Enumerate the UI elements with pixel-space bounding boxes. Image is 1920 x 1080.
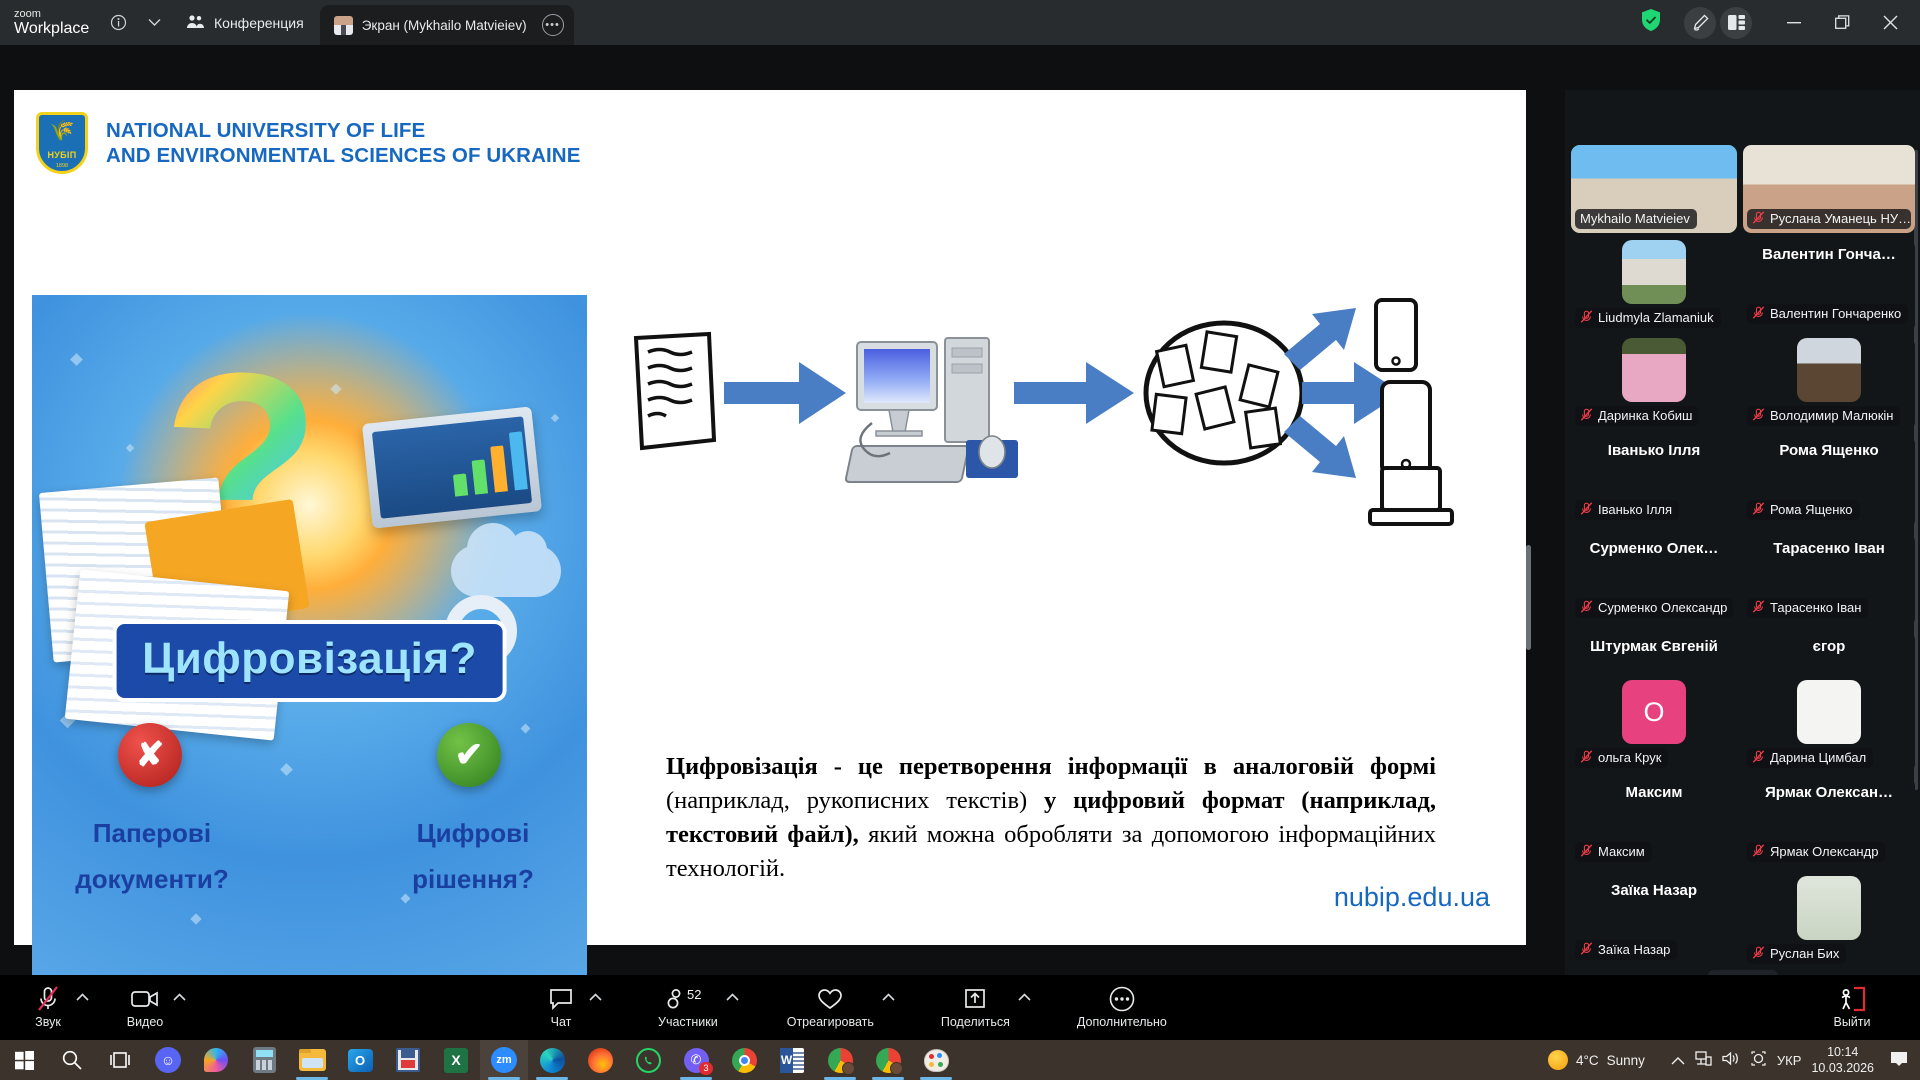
logo-text: НУБІП	[39, 150, 85, 160]
participants-options-chevron-icon[interactable]	[726, 992, 739, 1004]
participant-big-name: Штурмак Євгеній	[1571, 638, 1737, 655]
participant-name-bar: Тарасенко Іван	[1747, 598, 1868, 618]
file-explorer-icon[interactable]	[288, 1040, 336, 1080]
whatsapp-icon[interactable]	[624, 1040, 672, 1080]
avatar	[1797, 338, 1861, 402]
leave-button[interactable]: Выйти	[1832, 986, 1872, 1029]
weather-widget[interactable]: 4°C Sunny	[1548, 1050, 1645, 1070]
website-footer: nubip.edu.ua	[1334, 882, 1490, 913]
smartphone-icon	[1376, 300, 1416, 370]
save-disk-icon[interactable]	[384, 1040, 432, 1080]
participant-name-bar: Руслан Бих	[1747, 944, 1846, 964]
reactions-control-group: Отреагировать	[787, 986, 895, 1029]
system-tray: 4°C Sunny УКР 10:14 10.03.2026	[1548, 1044, 1920, 1076]
paint-icon[interactable]	[912, 1040, 960, 1080]
conference-tab[interactable]: Конференция	[172, 0, 320, 45]
mic-off-icon	[1580, 408, 1593, 423]
excel-icon[interactable]: X	[432, 1040, 480, 1080]
participants-button[interactable]: 52 Участники	[658, 986, 718, 1029]
avatar: О	[1622, 680, 1686, 744]
participant-big-name: Рома Ященко	[1743, 442, 1915, 459]
more-button[interactable]: Дополнительно	[1077, 986, 1167, 1029]
chat-options-chevron-icon[interactable]	[589, 992, 602, 1004]
digitization-flow-diagram	[614, 290, 1454, 550]
clock-time: 10:14	[1827, 1044, 1858, 1060]
participant-tile[interactable]: Тарасенко ІванТарасенко Іван	[1743, 534, 1915, 626]
participant-name-bar: Валентин Гончаренко	[1747, 304, 1908, 324]
desktop-computer-icon	[845, 338, 1018, 482]
participant-name: Руслан Бих	[1770, 946, 1839, 961]
digital-solutions-caption-line1: Цифрові	[373, 810, 573, 856]
clock[interactable]: 10:14 10.03.2026	[1811, 1044, 1874, 1076]
avatar	[1797, 876, 1861, 940]
share-button[interactable]: Поделиться	[941, 986, 1010, 1029]
participants-strip: Mykhailo MatvieievРуслана Уманець НУ…Liu…	[1565, 90, 1920, 1020]
participant-name: Тарасенко Іван	[1770, 600, 1861, 615]
participant-big-name: Заїка Назар	[1571, 882, 1737, 899]
chat-label: Чат	[551, 1015, 572, 1029]
firefox-icon[interactable]	[576, 1040, 624, 1080]
participant-tile[interactable]: Заїка НазарЗаїка Назар	[1571, 876, 1737, 968]
cross-mark-icon: ✘	[118, 723, 182, 787]
zoom-logo: zoom Workplace	[0, 0, 100, 45]
participant-name-bar: Володимир Малюкін	[1747, 406, 1900, 426]
zoom-meeting-toolbar: Звук Видео Чат	[0, 975, 1920, 1040]
university-name-line1: NATIONAL UNIVERSITY OF LIFE	[106, 118, 580, 143]
participant-name: Іванько Ілля	[1598, 502, 1672, 517]
camera-icon	[131, 986, 159, 1012]
chrome-icon[interactable]	[720, 1040, 768, 1080]
participant-tile[interactable]: Оольга Крук	[1571, 680, 1737, 772]
participant-name: Заїка Назар	[1598, 942, 1670, 957]
paper-documents-caption-line2: документи?	[52, 856, 252, 902]
paper-documents-caption: Паперові документи?	[52, 810, 252, 902]
digital-solutions-caption: Цифрові рішення?	[373, 810, 573, 902]
search-icon[interactable]	[48, 1040, 96, 1080]
mic-off-icon	[1752, 946, 1765, 961]
mic-off-icon	[1752, 750, 1765, 765]
video-label: Видео	[127, 1015, 164, 1029]
bar-chart-graphic	[449, 431, 528, 496]
avatar	[334, 16, 353, 35]
volume-icon[interactable]	[1722, 1051, 1740, 1069]
chrome-profile-icon[interactable]	[816, 1040, 864, 1080]
shield-check-icon[interactable]	[1640, 8, 1662, 37]
video-button[interactable]: Видео	[125, 986, 165, 1029]
participant-tile[interactable]: Ярмак Олексан…Ярмак Олександр	[1743, 778, 1915, 870]
chrome-profile2-icon[interactable]	[864, 1040, 912, 1080]
participant-name: Даринка Кобиш	[1598, 408, 1692, 423]
participant-tile[interactable]: Руслана Уманець НУ…	[1743, 145, 1915, 233]
participant-big-name: Тарасенко Іван	[1743, 540, 1915, 557]
participant-tile[interactable]: Рома ЯщенкоРома Ященко	[1743, 436, 1915, 528]
zoom-title-bar: zoom Workplace Конференция Экран (Mykhai…	[0, 0, 1920, 45]
minimize-button[interactable]	[1772, 0, 1816, 45]
window-controls	[1640, 0, 1920, 45]
annotate-pen-icon[interactable]	[1684, 7, 1716, 39]
participant-big-name: Максим	[1571, 784, 1737, 801]
tab-screen-share[interactable]: Экран (Mykhailo Matvieiev) •••	[320, 5, 574, 45]
participant-big-name: Іванько Ілля	[1571, 442, 1737, 459]
info-icon[interactable]	[100, 0, 136, 45]
weather-temp: 4°C	[1576, 1053, 1599, 1068]
participant-name: Рома Ященко	[1770, 502, 1853, 517]
video-control-group: Видео	[125, 986, 186, 1029]
check-mark-icon: ✔	[437, 723, 501, 787]
participant-name-bar: Сурменко Олександр	[1575, 598, 1733, 618]
viber-icon[interactable]: ✆ 3	[672, 1040, 720, 1080]
participant-tile[interactable]: Володимир Малюкін	[1743, 338, 1915, 430]
shared-content-scrollbar[interactable]	[1526, 545, 1531, 650]
participant-tile[interactable]: Руслан Бих	[1743, 876, 1915, 968]
participant-name-bar: Mykhailo Matvieiev	[1575, 209, 1697, 229]
participant-big-name: Ярмак Олексан…	[1743, 784, 1915, 801]
chevron-up-icon[interactable]	[1671, 1053, 1685, 1068]
participant-name: Liudmyla Zlamaniuk	[1598, 310, 1714, 325]
digital-files-cloud-icon	[1146, 323, 1302, 463]
mic-off-icon	[1580, 600, 1593, 615]
windows-taskbar: ☺ O X zm ✆ 3	[0, 1040, 1920, 1080]
participant-name-bar: ольга Крук	[1575, 748, 1668, 768]
task-view-icon[interactable]	[96, 1040, 144, 1080]
participant-name: Сурменко Олександр	[1598, 600, 1727, 615]
arrow-icon	[724, 362, 846, 424]
avatar	[1622, 240, 1686, 304]
react-button[interactable]: Отреагировать	[787, 986, 874, 1029]
participant-name-bar: Ярмак Олександр	[1747, 842, 1885, 862]
participant-name-bar: Руслана Уманець НУ…	[1747, 209, 1911, 229]
participants-label: Участники	[658, 1015, 718, 1029]
people-icon	[186, 14, 205, 32]
svg-text:52: 52	[687, 988, 701, 1002]
audio-control-group: Звук	[28, 986, 89, 1029]
copilot-icon[interactable]	[192, 1040, 240, 1080]
mic-off-icon	[1580, 310, 1593, 325]
participant-name-bar: Даринка Кобиш	[1575, 406, 1699, 426]
avatar	[1622, 338, 1686, 402]
discord-icon[interactable]: ☺	[144, 1040, 192, 1080]
paragraph-normal-1: (наприклад, рукописних текстів)	[666, 787, 1044, 814]
slide-paragraph: Цифровізація - це перетворення інформаці…	[666, 750, 1436, 886]
weather-text: Sunny	[1607, 1053, 1645, 1068]
chevron-down-icon[interactable]	[136, 0, 172, 45]
participant-big-name: Валентин Гонча…	[1743, 246, 1915, 263]
participant-name-bar: Рома Ященко	[1747, 500, 1860, 520]
mic-off-icon	[1752, 306, 1765, 321]
language-indicator[interactable]: УКР	[1777, 1053, 1802, 1068]
participant-tile[interactable]: Дарина Цимбал	[1743, 680, 1915, 772]
outlook-icon[interactable]: O	[336, 1040, 384, 1080]
participant-big-name: єгор	[1743, 638, 1915, 655]
avatar	[1797, 680, 1861, 744]
chat-button[interactable]: Чат	[541, 986, 581, 1029]
react-label: Отреагировать	[787, 1015, 874, 1029]
participant-tile[interactable]: Даринка Кобиш	[1571, 338, 1737, 430]
mic-off-icon	[1752, 211, 1765, 226]
zoom-logo-line2: Workplace	[14, 20, 100, 38]
meeting-body: 🌾 НУБІП 1898 NATIONAL UNIVERSITY OF LIFE…	[0, 45, 1920, 975]
arrow-icon	[1284, 416, 1356, 478]
participant-tile[interactable]: Іванько ІлляІванько Ілля	[1571, 436, 1737, 528]
participant-name-bar: Заїка Назар	[1575, 940, 1677, 960]
laptop-icon	[1370, 468, 1452, 524]
clock-date: 10.03.2026	[1811, 1060, 1874, 1076]
participant-name-bar: Іванько Ілля	[1575, 500, 1679, 520]
windows-start-icon[interactable]	[0, 1040, 48, 1080]
participant-name: Руслана Уманець НУ…	[1770, 211, 1911, 226]
mobile-phone-icon	[1382, 382, 1430, 474]
leave-door-icon	[1837, 986, 1867, 1012]
participant-tile[interactable]: Liudmyla Zlamaniuk	[1571, 240, 1737, 332]
edge-icon[interactable]	[528, 1040, 576, 1080]
share-control-group: Поделиться	[941, 986, 1031, 1029]
audio-label: Звук	[35, 1015, 61, 1029]
mic-off-icon	[1752, 502, 1765, 517]
mic-off-icon	[1580, 750, 1593, 765]
participant-tile[interactable]: МаксимМаксим	[1571, 778, 1737, 870]
participant-name-bar: Максим	[1575, 842, 1652, 862]
participant-name: Володимир Малюкін	[1770, 408, 1893, 423]
heart-icon	[817, 986, 843, 1012]
participant-tile[interactable]: Валентин Гонча…Валентин Гончаренко	[1743, 240, 1915, 332]
more-options-icon[interactable]: •••	[542, 14, 564, 36]
zoom-logo-line1: zoom	[14, 8, 100, 20]
handwritten-document-icon	[636, 334, 714, 448]
paper-documents-caption-line1: Паперові	[52, 810, 252, 856]
participant-name: ольга Крук	[1598, 750, 1661, 765]
video-options-chevron-icon[interactable]	[173, 992, 186, 1004]
mic-off-icon	[1580, 844, 1593, 859]
restore-button[interactable]	[1820, 0, 1864, 45]
tab-label: Экран (Mykhailo Matvieiev)	[362, 18, 527, 33]
wheat-icon: 🌾	[50, 121, 75, 141]
camera-privacy-icon[interactable]	[1750, 1051, 1767, 1069]
logo-year: 1898	[39, 163, 85, 169]
conference-label: Конференция	[214, 15, 304, 31]
share-screen-icon	[963, 986, 987, 1012]
leave-label: Выйти	[1833, 1015, 1870, 1029]
sun-icon	[1548, 1050, 1568, 1070]
mic-off-icon	[1580, 502, 1593, 517]
slide-header: 🌾 НУБІП 1898 NATIONAL UNIVERSITY OF LIFE…	[14, 90, 1526, 174]
illustration-title: Цифровізація?	[112, 620, 507, 702]
participant-tile[interactable]: Сурменко Олек…Сурменко Олександр	[1571, 534, 1737, 626]
participant-name: Валентин Гончаренко	[1770, 306, 1901, 321]
notification-icon[interactable]	[1890, 1051, 1908, 1070]
chat-control-group: Чат	[541, 986, 602, 1029]
share-label: Поделиться	[941, 1015, 1010, 1029]
shared-screen-slide: 🌾 НУБІП 1898 NATIONAL UNIVERSITY OF LIFE…	[14, 90, 1526, 945]
layout-panel-icon[interactable]	[1720, 7, 1752, 39]
calculator-icon[interactable]	[240, 1040, 288, 1080]
word-icon[interactable]: W	[768, 1040, 816, 1080]
arrow-icon	[1014, 362, 1134, 424]
network-icon[interactable]	[1695, 1051, 1712, 1069]
digital-solutions-caption-line2: рішення?	[373, 856, 573, 902]
participants-control-group: 52 Участники	[658, 986, 739, 1029]
participant-name-bar: Liudmyla Zlamaniuk	[1575, 308, 1721, 328]
mic-off-icon	[1752, 844, 1765, 859]
people-icon: 52	[667, 986, 709, 1012]
mic-off-icon	[1752, 408, 1765, 423]
close-button[interactable]	[1868, 0, 1912, 45]
react-options-chevron-icon[interactable]	[882, 992, 895, 1004]
zoom-icon[interactable]: zm	[480, 1040, 528, 1080]
nubip-logo-icon: 🌾 НУБІП 1898	[36, 112, 88, 174]
participant-name: Дарина Цимбал	[1770, 750, 1866, 765]
mic-off-icon	[36, 986, 60, 1012]
viber-badge-count: 3	[699, 1062, 712, 1075]
audio-button[interactable]: Звук	[28, 986, 68, 1029]
university-name: NATIONAL UNIVERSITY OF LIFE AND ENVIRONM…	[106, 118, 580, 168]
more-dots-icon	[1109, 986, 1135, 1012]
participant-name: Ярмак Олександр	[1770, 844, 1878, 859]
participant-name-bar: Дарина Цимбал	[1747, 748, 1873, 768]
arrow-icon	[1284, 308, 1356, 370]
chat-bubble-icon	[549, 986, 573, 1012]
mic-off-icon	[1752, 600, 1765, 615]
participant-tile[interactable]: Mykhailo Matvieiev	[1571, 145, 1737, 233]
participant-big-name: Сурменко Олек…	[1571, 540, 1737, 557]
more-label: Дополнительно	[1077, 1015, 1167, 1029]
participant-name: Максим	[1598, 844, 1645, 859]
audio-options-chevron-icon[interactable]	[76, 992, 89, 1004]
share-options-chevron-icon[interactable]	[1018, 992, 1031, 1004]
mic-off-icon	[1580, 942, 1593, 957]
participant-name: Mykhailo Matvieiev	[1580, 211, 1690, 226]
cloud-graphic	[451, 545, 561, 597]
paragraph-bold-1: Цифровізація - це перетворення інформаці…	[666, 753, 1436, 780]
digitalization-illustration: ? Цифровізація? ✘ ✔ Паперові документи?	[32, 295, 587, 995]
university-name-line2: AND ENVIRONMENTAL SCIENCES OF UKRAINE	[106, 143, 580, 168]
